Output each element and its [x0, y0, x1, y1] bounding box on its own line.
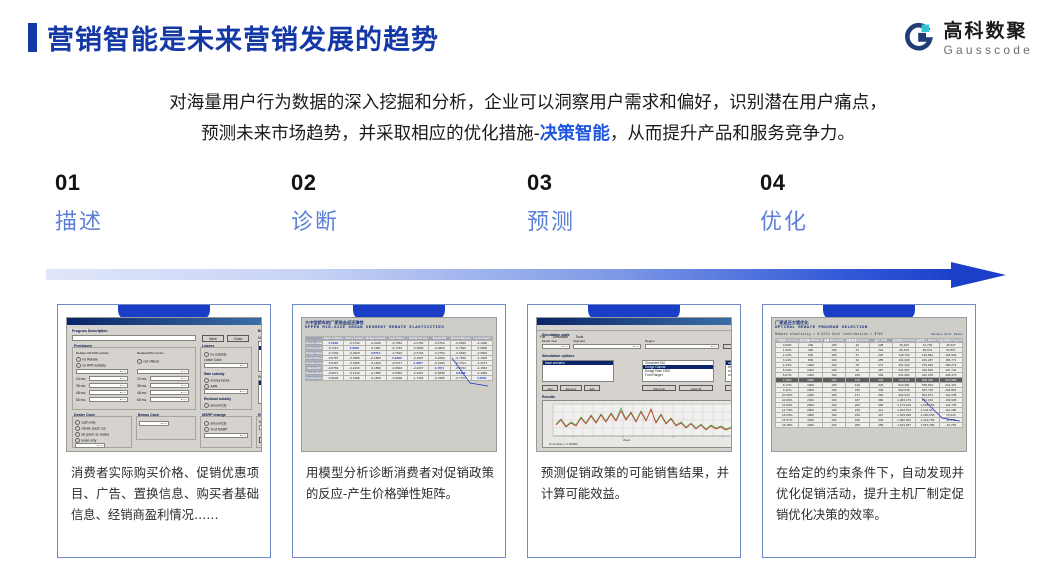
table-cell: 15.48%	[776, 423, 799, 428]
term-36-field-left[interactable]	[89, 383, 128, 388]
radio-money-factor[interactable]: money factor	[204, 378, 230, 383]
logo-text-cn: 高科数聚	[943, 22, 1033, 41]
table-row: Nissan Maxima-0.6571-0.2149-0.1869-0.635…	[306, 371, 493, 376]
label-segment: Segment	[573, 339, 585, 343]
table-cell: 1,534,487	[892, 423, 915, 428]
sim-titlebar: Simulation results	[537, 318, 731, 325]
scenario-listbox[interactable]: base scenario	[542, 360, 614, 382]
step-01-label: 描述	[55, 212, 265, 234]
program-description-input[interactable]	[72, 335, 196, 341]
table-row: Buick LeSabre1.1548-0.2742-0.2018-0.7254…	[306, 341, 493, 346]
table-col-header: Chevy Lumina	[344, 337, 365, 341]
slide-header: 营销智能是未来营销发展的趋势 高科数聚 Gausscode	[0, 0, 1051, 72]
term-24-label-right: 24 mo.	[137, 377, 147, 381]
close-button[interactable]: Close	[227, 335, 249, 342]
step-01: 01 描述	[55, 172, 265, 234]
table-row: Toyota Camry-0.5645-0.1988-0.1660-0.6189…	[306, 376, 493, 381]
rebate-model-label: Model	[259, 420, 262, 424]
radio-no-apr-subsidy[interactable]: no APR subsidy	[76, 363, 106, 368]
list-item[interactable]: Nissan Frontier	[259, 366, 262, 370]
term-36-label-right: 36 mo.	[137, 384, 147, 388]
table-col-header: 项目利润 Program Profit	[939, 339, 962, 343]
group-label-program-description: Program Description	[72, 329, 108, 333]
rate-subsidy-combo[interactable]	[204, 389, 248, 394]
msrp-change-combo[interactable]	[204, 433, 248, 438]
chart-correlation-note: (Correlation = 0.96386)	[549, 442, 578, 446]
table-col-header: 返还金额 Rebate $	[799, 339, 822, 343]
table-cell: -22,789	[939, 423, 962, 428]
optimal-rebate-table: 平均售价 Customer Price返还金额 Rebate $销量 Base …	[775, 338, 963, 428]
intro-line-2: 预测未来市场趋势，并采取相应的优化措施-决策智能，从而提升产品和服务竞争力。	[48, 119, 1008, 150]
label-results: Results	[542, 395, 555, 399]
residual-subsidy-label: Residual subsidy	[204, 397, 231, 401]
save-button[interactable]: Save	[202, 335, 224, 342]
term-60-field-right[interactable]	[150, 397, 189, 402]
intro-line-2-text-b: ，从而提升产品和服务竞争力。	[610, 124, 855, 144]
logo-text-en: Gausscode	[943, 44, 1033, 56]
rebate-model-combo[interactable]	[259, 425, 262, 430]
sim-clear-all-button[interactable]: Clear All	[679, 385, 713, 391]
table-cell: 265	[846, 423, 869, 428]
card-01-screenshot: Edit scenario Program Description Save C…	[66, 317, 262, 452]
radio-rebate-cash-to[interactable]: rebate (cash, to)	[75, 426, 106, 431]
graph-button[interactable]: Graph	[725, 385, 732, 391]
table-cell: 4.2561	[471, 376, 492, 381]
lease-cash-combo[interactable]	[204, 363, 248, 368]
step-02: 02 诊断	[291, 172, 501, 234]
term-36-label-left: 36 mo.	[76, 384, 86, 388]
title-accent-bar	[28, 23, 37, 52]
intro-paragraph: 对海量用户行为数据的深入挖掘和分析，企业可以洞察用户需求和偏好，识别潜在用户痛点…	[48, 88, 1008, 150]
table-col-header: 返还收入 Rebate Sales	[916, 339, 939, 343]
remove-button[interactable]: Remove	[560, 385, 582, 391]
radio-all-cash-to-lease[interactable]: all (cash, to, lease)	[75, 432, 109, 437]
step-04: 04 优化	[760, 172, 970, 234]
slide: 营销智能是未来营销发展的趋势 高科数聚 Gausscode 对海量用户行为数据的…	[0, 0, 1051, 586]
intro-line-1-text: 对海量用户行为数据的深入挖掘和分析，企业可以洞察用户需求和偏好，识别潜在用户痛点…	[169, 93, 887, 113]
table-col-header: 返还成本 Incremental Rebate Cost	[892, 339, 915, 343]
output-options-listbox[interactable]: sales volume final share, market penetra…	[725, 360, 732, 382]
dealer-cash-combo[interactable]	[75, 443, 105, 448]
step-04-label: 优化	[760, 212, 970, 234]
step-02-number: 02	[291, 172, 501, 194]
chart-xlabel: Week	[623, 438, 630, 442]
arrow-shaft	[46, 269, 958, 280]
term-60-field-left[interactable]	[89, 397, 128, 402]
bonus-cash-combo[interactable]	[139, 421, 169, 426]
step-01-number: 01	[55, 172, 265, 194]
group-label-rebate-incentives: Rebate incentives	[258, 413, 262, 417]
rebate-title-en: OPTIMAL REBATE PROGRAM SELECTION	[775, 326, 868, 330]
table-row: Ford Taurus-0.6787-0.2988-0.18600.9480-2…	[306, 356, 493, 361]
card-02-caption: 用模型分析诊断消费者对促销政策的反应-产生价格弹性矩阵。	[306, 463, 494, 505]
card-03-caption: 预测促销政策的可能销售结果，并计算可能效益。	[541, 463, 729, 505]
label-model-year: Model Year	[542, 339, 557, 343]
radio-msrp-amount[interactable]: amount ($)	[204, 421, 226, 426]
add-button[interactable]: Add	[542, 385, 558, 391]
table-row-header: Toyota Camry	[306, 376, 323, 381]
group-label-msrp-change: MSRP change	[202, 413, 226, 417]
table-col-header: Ford Taurus	[386, 337, 407, 341]
label-region: Region	[645, 339, 655, 343]
radio-not-offered[interactable]: not offered	[137, 359, 159, 364]
intro-line-1: 对海量用户行为数据的深入挖掘和分析，企业可以洞察用户需求和偏好，识别潜在用户痛点…	[48, 88, 1008, 119]
group-label-leases: Leases	[202, 344, 214, 348]
step-03: 03 预测	[527, 172, 737, 234]
step-03-number: 03	[527, 172, 737, 194]
table-col-header: Honda Accord	[408, 337, 429, 341]
step-04-number: 04	[760, 172, 970, 194]
list-item[interactable]: cost per incremental unit	[726, 373, 732, 377]
radio-no-subsidy[interactable]: no subsidy	[204, 352, 226, 357]
group-label-purchases: Purchases	[74, 344, 92, 348]
rebate-clear-button[interactable]: Clear	[259, 437, 262, 443]
table-row: Honda Accord-0.5497-0.1986-0.1642-0.5747…	[306, 361, 493, 366]
term-48-field-left[interactable]	[89, 390, 128, 395]
table-cell: 3400	[799, 423, 822, 428]
card-04-screenshot: 厂家返还方案优化 OPTIMAL REBATE PROGRAM SELECTIO…	[771, 317, 967, 452]
load-data-button[interactable]: Load Data	[723, 344, 732, 349]
radio-residual-amount[interactable]: amount ($)	[204, 403, 226, 408]
progress-arrow	[46, 262, 1006, 288]
card-02-screenshot: 大中型轿车的厂家现金返还弹性 UPPER MID-SIZE SEDAN SEGM…	[301, 317, 497, 452]
card-01-describe[interactable]: Edit scenario Program Description Save C…	[57, 304, 271, 558]
table-row: 15.48%34001902654581,534,4871,567,286-22…	[776, 423, 963, 428]
dialog-titlebar: Edit scenario	[67, 318, 261, 325]
term-48-label-left: 48 mo.	[76, 391, 86, 395]
card-row: Edit scenario Program Description Save C…	[0, 296, 1051, 564]
gausscode-logo-icon	[902, 22, 936, 56]
brand-logo: 高科数聚 Gausscode	[902, 19, 1033, 59]
sim-select-all-button[interactable]: Select All	[642, 385, 676, 391]
rebate-subtitle-right: Resale Unit Sales	[931, 332, 963, 336]
table-cell: 190	[822, 423, 845, 428]
table-col-header: 平均售价 Customer Price	[776, 339, 799, 343]
term-60-label-left: 60 mo.	[76, 398, 86, 402]
sim-menubar[interactable]: File Simulation Tools	[537, 325, 731, 331]
radio-msrp-pct[interactable]: % of MSRP	[204, 427, 228, 432]
purchases-combo-combo[interactable]	[137, 369, 189, 374]
card-04-caption: 在给定的约束条件下，自动发现并优化促销活动，提升主机厂制定促销优化决策的效率。	[776, 463, 964, 526]
intro-highlight: 决策智能	[540, 124, 610, 144]
step-02-label: 诊断	[291, 212, 501, 234]
purchases-sub2-label: Rebate/APR combo	[137, 351, 164, 355]
region-list-label: Region(s)	[258, 375, 262, 379]
card-03-screenshot: Simulation results File Simulation Tools…	[536, 317, 732, 452]
table-col-header: 销量 Base Units	[822, 339, 845, 343]
table-cell: -0.7371	[450, 376, 471, 381]
step-03-label: 预测	[527, 212, 737, 234]
term-60-label-right: 60 mo.	[137, 398, 147, 402]
group-label-dealer-cash: Dealer Cash	[74, 413, 95, 417]
table-col-header: Buick LeSabre	[323, 337, 344, 341]
table-cell: -1.7426	[408, 376, 429, 381]
purchases-sub1-label: Rebate OR APR subsidy	[76, 351, 109, 355]
table-col-header: Nissan Maxima	[450, 337, 471, 341]
list-item[interactable]: base scenario	[543, 361, 613, 365]
rate-subsidy-label: Rate subsidy	[204, 372, 225, 376]
table-col-header: 增量销量 Incremental	[846, 339, 869, 343]
purchases-rebate-combo[interactable]	[76, 369, 128, 374]
table-row: Chevy Lumina-0.73132.2622-0.1991-0.7793-…	[306, 346, 493, 351]
table-cell: -0.1988	[344, 376, 365, 381]
step-row: 01 描述 02 诊断 03 预测 04 优化	[0, 172, 1051, 250]
card-02-diagnose[interactable]: 大中型轿车的厂家现金返还弹性 UPPER MID-SIZE SEDAN SEGM…	[292, 304, 506, 558]
arrow-head-icon	[951, 262, 1006, 288]
term-24-field-left[interactable]	[89, 376, 128, 381]
group-label-bonus-cash: Bonus Cash	[138, 413, 159, 417]
list-item[interactable]: Ford Ranger	[643, 373, 713, 377]
intro-line-2-text-a: 预测未来市场趋势，并采取相应的优化措施-	[201, 124, 540, 144]
model-list-label: Model(s)	[258, 336, 262, 340]
model-listbox[interactable]: Chevrolet SS Dodge Charger Dodge Ram 150…	[258, 341, 262, 372]
segment-combo[interactable]	[573, 344, 641, 349]
table-cell: -0.1660	[365, 376, 386, 381]
model-options-listbox[interactable]: Chevrolet S10 Dodge Dakota Dodge Ram 150…	[642, 360, 714, 382]
table-row: Dodge Intrepid-0.7204-0.29280.8712-0.751…	[306, 351, 493, 356]
table-col-header: Dodge Intrepid	[365, 337, 386, 341]
card-01-caption: 消费者实际购买价格、促销优惠项目、广告、置换信息、购买者基础信息、经销商盈利情况…	[71, 463, 259, 526]
card-04-optimize[interactable]: 厂家返还方案优化 OPTIMAL REBATE PROGRAM SELECTIO…	[762, 304, 976, 558]
rebate-subtitle: Rebate elasticity = 0.8712 Unit Contribu…	[775, 332, 883, 336]
card-03-predict[interactable]: Simulation results File Simulation Tools…	[527, 304, 741, 558]
group-label-base-incentives: Base incentives	[258, 329, 262, 333]
bonus-cash-group	[136, 416, 196, 440]
table-cell: 1,567,286	[916, 423, 939, 428]
model-year-combo[interactable]	[542, 344, 570, 349]
term-48-label-right: 48 mo.	[137, 391, 147, 395]
term-24-field-right[interactable]	[150, 376, 189, 381]
region-combo[interactable]	[645, 344, 719, 349]
elasticity-matrix-table: Buick LeSabreChevy LuminaDodge IntrepidF…	[305, 336, 493, 381]
table-cell: -0.5645	[323, 376, 344, 381]
table-col-header: Toyota Camry	[471, 337, 492, 341]
table-cell: 458	[869, 423, 892, 428]
list-item[interactable]: West	[259, 397, 262, 401]
label-simulation-state: Simulation state	[542, 333, 570, 337]
label-simulation-options: Simulation options	[542, 354, 574, 358]
lease-cash-label: Lease Cash	[204, 358, 222, 362]
table-row: Mazda 626-0.6766-0.2233-0.1899-0.6904-2.…	[306, 366, 493, 371]
edit-button[interactable]: Edit	[584, 385, 600, 391]
table-cell: -0.2385	[429, 376, 450, 381]
term-48-field-right[interactable]	[150, 390, 189, 395]
matrix-title-en: UPPER MID-SIZE SEDAN SEGMENT REBATE ELAS…	[305, 326, 444, 330]
page-title: 营销智能是未来营销发展的趋势	[47, 18, 439, 57]
results-chart: Dodge Dakota est. Dodge Dakota actual We…	[542, 400, 732, 448]
table-cell: -0.6189	[386, 376, 407, 381]
radio-no-rebate[interactable]: no Rebate	[76, 357, 98, 362]
term-24-label-left: 24 mo.	[76, 377, 86, 381]
term-36-field-right[interactable]	[150, 383, 189, 388]
radio-cash-only[interactable]: cash only	[75, 420, 95, 425]
region-listbox[interactable]: Midwest Northeast Southeast Southwest We…	[258, 380, 262, 404]
